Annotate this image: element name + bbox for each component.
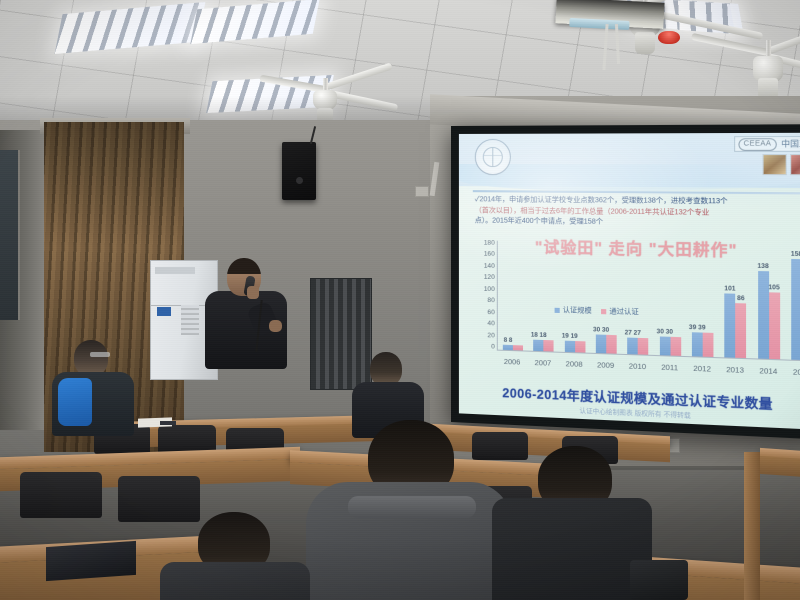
ceeaa-org-name: 中国工 xyxy=(781,138,800,150)
chair xyxy=(20,472,102,518)
bar-value-label: 8 8 xyxy=(504,337,513,344)
x-tick-label: 2011 xyxy=(656,362,684,372)
bar-value-label: 105 xyxy=(768,284,779,292)
bar-series-2 xyxy=(513,345,523,350)
ceeaa-logo-text: CEEAA xyxy=(738,138,777,151)
eyeglasses-icon xyxy=(90,352,110,357)
y-tick-label: 140 xyxy=(484,264,495,270)
presentation-slide: CEEAA 中国工 ✓2014年，申请参加认证学校专业点数362个，受理数138… xyxy=(459,133,800,430)
x-tick-label: 2014 xyxy=(754,365,783,376)
x-tick-label: 2006 xyxy=(499,356,525,366)
desk-row-far-right2 xyxy=(760,448,800,462)
bar-series-1: 18 18 xyxy=(534,340,544,351)
left-window xyxy=(0,150,20,320)
bar-series-2 xyxy=(575,341,585,353)
ceiling-projector xyxy=(555,0,664,29)
pen xyxy=(160,421,176,425)
presenter xyxy=(205,258,289,370)
bar-series-1: 158 xyxy=(791,259,800,360)
bar-group: 18 18 xyxy=(531,241,558,351)
bar-group: 30 30 xyxy=(593,242,620,354)
chart-bars: 8 818 1819 1930 3027 2730 3039 391018613… xyxy=(498,241,800,361)
ceiling-fan-icon xyxy=(740,40,796,92)
bar-series-1: 27 27 xyxy=(628,337,639,354)
fire-alarm-icon xyxy=(658,31,680,44)
audience-member-foreground xyxy=(160,512,310,600)
x-tick-label: 2010 xyxy=(624,361,651,371)
y-tick-label: 120 xyxy=(484,275,495,281)
bar-value-label: 39 39 xyxy=(689,323,706,331)
bar-value-label: 158 xyxy=(791,251,800,259)
bar-group: 138105 xyxy=(754,245,783,360)
y-tick-label: 80 xyxy=(487,298,494,304)
ceeaa-badge: CEEAA 中国工 xyxy=(734,136,800,152)
bar-series-2: 105 xyxy=(769,292,780,359)
thumbnail-image xyxy=(790,154,800,175)
bar-value-label: 30 30 xyxy=(657,328,673,336)
y-tick-label: 160 xyxy=(484,252,495,258)
laptop xyxy=(46,541,136,581)
chart-plot-area: 认证规模通过认证 8 818 1819 1930 3027 2730 3039 … xyxy=(497,241,800,362)
bar-value-label: 18 18 xyxy=(531,332,547,340)
audience-member-foreground xyxy=(306,420,512,600)
bar-series-1: 39 39 xyxy=(692,332,703,357)
bar-chart: 180160140120100806040200 认证规模通过认证 8 818 … xyxy=(469,234,800,385)
bar-group: 8 8 xyxy=(500,241,526,351)
thumbnail-image xyxy=(763,154,787,175)
power-outlet-icon xyxy=(415,186,429,197)
bullet-line-1: 2014年，申请参加认证学校专业点数362个，受理数138个，进校考查数113个 xyxy=(480,195,728,205)
bar-series-1: 8 8 xyxy=(503,345,513,350)
x-tick-label: 2015 xyxy=(788,366,800,377)
bar-group: 27 27 xyxy=(624,243,651,355)
x-tick-label: 2007 xyxy=(530,357,557,367)
audience-member-foreground xyxy=(492,446,652,600)
bar-value-label: 27 27 xyxy=(625,329,641,337)
audience-member xyxy=(52,340,134,432)
slide-thumbnails xyxy=(763,154,800,175)
y-tick-label: 180 xyxy=(484,240,495,246)
bar-value-label: 19 19 xyxy=(562,332,578,340)
bar-value-label: 30 30 xyxy=(593,326,609,334)
bar-group: 39 39 xyxy=(689,244,717,357)
bar-series-2 xyxy=(638,338,649,355)
bar-series-1: 30 30 xyxy=(659,336,670,355)
wall-speaker-icon xyxy=(282,142,316,200)
university-seal-icon xyxy=(475,139,511,175)
bar-group: 30 30 xyxy=(656,243,684,356)
bar-series-1: 19 19 xyxy=(565,340,575,352)
x-tick-label: 2009 xyxy=(592,359,619,369)
bar-series-2 xyxy=(703,332,714,357)
slide-divider xyxy=(473,190,800,194)
projection-screen-frame: CEEAA 中国工 ✓2014年，申请参加认证学校专业点数362个，受理数138… xyxy=(451,124,800,439)
x-tick-label: 2013 xyxy=(721,364,749,374)
desk-leg xyxy=(744,452,760,600)
projection-screen: CEEAA 中国工 ✓2014年，申请参加认证学校专业点数362个，受理数138… xyxy=(459,133,800,430)
room-scene: CEEAA 中国工 ✓2014年，申请参加认证学校专业点数362个，受理数138… xyxy=(0,0,800,600)
y-tick-label: 0 xyxy=(491,344,495,350)
x-tick-label: 2012 xyxy=(688,363,716,373)
chart-y-axis: 180160140120100806040200 xyxy=(469,240,495,350)
bar-series-2 xyxy=(606,335,616,354)
y-tick-label: 100 xyxy=(484,287,495,293)
x-tick-label: 2008 xyxy=(561,358,588,368)
backpack xyxy=(58,378,92,426)
bar-series-2 xyxy=(544,340,554,351)
y-tick-label: 60 xyxy=(487,310,494,316)
bar-value-label: 86 xyxy=(737,295,745,303)
bar-series-2 xyxy=(670,337,681,356)
bar-series-2: 86 xyxy=(735,304,746,359)
bar-value-label: 138 xyxy=(757,263,768,271)
bar-series-1: 138 xyxy=(758,271,769,359)
bar-group: 10186 xyxy=(721,244,749,358)
bar-series-1: 30 30 xyxy=(596,335,606,354)
bag xyxy=(630,560,688,600)
bullet-line-3: 点）。2015年近400个申请点，受理158个 xyxy=(475,215,800,230)
bar-group: 158 xyxy=(788,245,800,360)
coat-collar xyxy=(348,496,476,518)
y-tick-label: 20 xyxy=(487,333,494,339)
bar-series-1: 101 xyxy=(725,294,736,358)
bar-group: 19 19 xyxy=(561,242,588,353)
y-tick-label: 40 xyxy=(487,321,494,327)
slide-bullet-text: ✓2014年，申请参加认证学校专业点数362个，受理数138个，进校考查数113… xyxy=(475,194,800,230)
bar-value-label: 101 xyxy=(724,285,735,293)
